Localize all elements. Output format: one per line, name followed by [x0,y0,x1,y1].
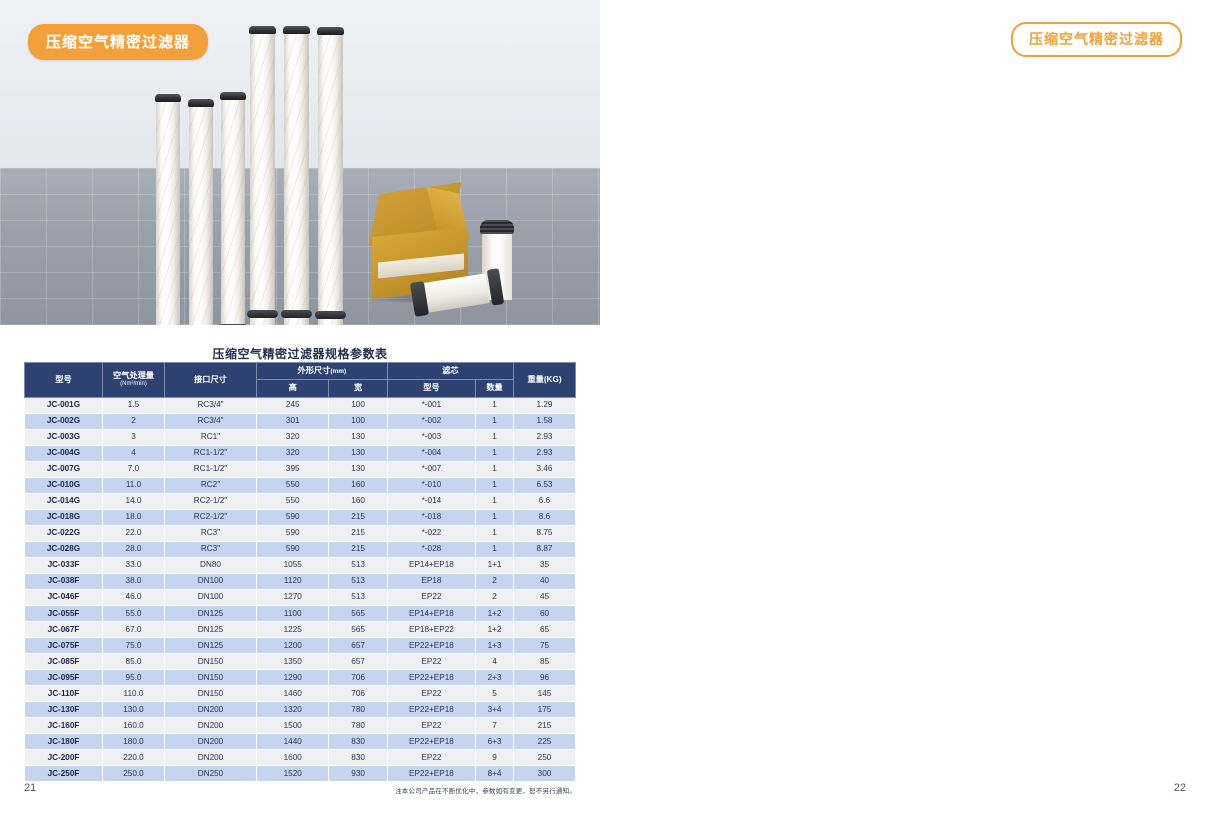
cell-model: JC-033F [25,557,103,573]
cell-value: 1225 [257,621,329,637]
cell-value: 395 [257,461,329,477]
cartridge-cap-top [283,26,310,34]
cell-value: 3 [103,429,165,445]
cell-value: RC1" [165,429,257,445]
cell-value: DN125 [165,605,257,621]
table-row: JC-038F38.0DN1001120513EP18240 [25,573,576,589]
filter-cartridge [189,99,213,325]
spec-table-title: 压缩空气精密过滤器规格参数表 [24,345,576,362]
cell-model: JC-250F [25,766,103,782]
cell-value: 565 [329,605,387,621]
cell-value: 1 [476,541,514,557]
cell-value: 215 [514,718,576,734]
cell-value: 9 [476,750,514,766]
th-air-flow: 空气处理量 (Nm³/min) [103,363,165,398]
cell-value: 657 [329,654,387,670]
cell-value: *-018 [387,509,475,525]
th-element-qty: 数量 [476,380,514,397]
table-row: JC-004G4RC1-1/2"320130*-00412.93 [25,445,576,461]
cell-value: 830 [329,750,387,766]
cell-model: JC-003G [25,429,103,445]
cell-value: 11.0 [103,477,165,493]
table-row: JC-001G1.5RC3/4"245100*-00111.29 [25,397,576,413]
cell-value: 60 [514,605,576,621]
cell-value: EP22+EP18 [387,734,475,750]
filter-cartridge [221,92,245,325]
cell-value: 1 [476,461,514,477]
cell-value: 513 [329,573,387,589]
cell-value: 22.0 [103,525,165,541]
cell-value: 513 [329,589,387,605]
cell-value: 215 [329,525,387,541]
cell-value: 2.93 [514,429,576,445]
table-row: JC-018G18.0RC2-1/2"590215*-01818.6 [25,509,576,525]
cartridge-collar [218,324,248,325]
cell-value: 1 [476,477,514,493]
cell-value: 6.53 [514,477,576,493]
cell-value: 4 [476,654,514,670]
cell-value: DN125 [165,637,257,653]
table-row: JC-067F67.0DN1251225565EP18+EP221+265 [25,621,576,637]
cell-value: 5 [476,686,514,702]
cell-value: 130 [329,429,387,445]
cell-value: 85.0 [103,654,165,670]
table-row: JC-055F55.0DN1251100565EP14+EP181+260 [25,605,576,621]
table-row: JC-200F220.0DN2001600830EP229250 [25,750,576,766]
cell-model: JC-046F [25,589,103,605]
right-page: 压缩空气精密过滤器 过滤等级过滤器名称过滤器类型固体颗粒去除(包括水和油雾)最大… [600,0,1206,816]
cell-value: DN200 [165,718,257,734]
table-row: JC-002G2RC3/4"301100*-00211.58 [25,413,576,429]
cell-value: 35 [514,557,576,573]
cell-model: JC-067F [25,621,103,637]
cell-value: 2.93 [514,445,576,461]
cell-value: *-003 [387,429,475,445]
cell-value: 1 [476,493,514,509]
cell-value: 1200 [257,637,329,653]
cell-value: 590 [257,525,329,541]
cell-value: 706 [329,686,387,702]
th-port-size: 接口尺寸 [165,363,257,398]
left-page-badge: 压缩空气精密过滤器 [28,24,208,60]
cell-value: 1520 [257,766,329,782]
th-dimensions: 外形尺寸(mm) [257,363,388,380]
cell-value: 590 [257,509,329,525]
table-row: JC-160F160.0DN2001500780EP227215 [25,718,576,734]
cell-value: 145 [514,686,576,702]
cell-model: JC-004G [25,445,103,461]
cartridge-body [221,99,245,325]
right-page-badge: 压缩空气精密过滤器 [1011,22,1182,57]
cell-value: 215 [329,509,387,525]
cell-value: EP14+EP18 [387,605,475,621]
cell-model: JC-075F [25,637,103,653]
cell-value: RC3" [165,541,257,557]
filter-cartridge [250,26,275,325]
table-row: JC-075F75.0DN1251200657EP22+EP181+375 [25,637,576,653]
table-row: JC-110F110.0DN1501460706EP225145 [25,686,576,702]
table-row: JC-010G11.0RC2"550160*-01016.53 [25,477,576,493]
cell-value: DN100 [165,573,257,589]
cell-value: EP22 [387,718,475,734]
cell-value: RC1-1/2" [165,445,257,461]
cell-value: 130.0 [103,702,165,718]
spec-table-section: 压缩空气精密过滤器规格参数表 型号 空气处理量 (Nm³/min) 接口尺寸 外… [24,345,576,795]
cell-value: EP22+EP18 [387,766,475,782]
cell-value: 1320 [257,702,329,718]
cell-model: JC-200F [25,750,103,766]
cell-value: 8.6 [514,509,576,525]
cell-value: 3.46 [514,461,576,477]
cell-value: 1.58 [514,413,576,429]
table-row: JC-250F250.0DN2501520930EP22+EP188+4300 [25,766,576,782]
cell-model: JC-085F [25,654,103,670]
th-element: 滤芯 [387,363,513,380]
cartridge-cap-top [188,99,214,107]
cell-value: 245 [257,397,329,413]
cell-value: EP22 [387,654,475,670]
cell-value: RC2-1/2" [165,509,257,525]
cartridge-collar [247,310,278,318]
th-air-flow-unit: (Nm³/min) [105,381,162,389]
cell-value: 550 [257,493,329,509]
cell-value: 1440 [257,734,329,750]
cell-value: EP18 [387,573,475,589]
cell-model: JC-028G [25,541,103,557]
cell-value: 46.0 [103,589,165,605]
cartridge-collar [315,311,346,319]
cell-value: DN250 [165,766,257,782]
th-width: 宽 [329,380,387,397]
cell-value: 590 [257,541,329,557]
spec-table: 型号 空气处理量 (Nm³/min) 接口尺寸 外形尺寸(mm) 滤芯 重量(K… [24,362,576,782]
cell-value: 6+3 [476,734,514,750]
cell-value: DN200 [165,750,257,766]
cartridge-body [284,33,309,325]
cell-value: 1350 [257,654,329,670]
cell-model: JC-130F [25,702,103,718]
cell-value: 160 [329,477,387,493]
cell-value: EP18+EP22 [387,621,475,637]
cell-value: 95.0 [103,670,165,686]
cell-value: 85 [514,654,576,670]
cartridge-cap-top [249,26,276,34]
cell-value: RC1-1/2" [165,461,257,477]
cell-value: 7 [476,718,514,734]
cell-model: JC-007G [25,461,103,477]
right-page-number: 22 [1174,782,1186,794]
th-weight: 重量(KG) [514,363,576,398]
cell-value: 250.0 [103,766,165,782]
cell-value: 513 [329,557,387,573]
cell-value: 2 [476,573,514,589]
filter-cartridge [318,27,343,325]
cell-value: 706 [329,670,387,686]
cell-value: EP22 [387,686,475,702]
cell-model: JC-018G [25,509,103,525]
cell-value: 2 [103,413,165,429]
cell-value: 2+3 [476,670,514,686]
cell-value: 110.0 [103,686,165,702]
cell-value: DN150 [165,654,257,670]
cell-value: *-004 [387,445,475,461]
th-dimensions-unit: (mm) [330,368,346,375]
cell-model: JC-022G [25,525,103,541]
cell-value: 160.0 [103,718,165,734]
cell-value: EP22+EP18 [387,637,475,653]
cell-value: RC3" [165,525,257,541]
cell-value: DN150 [165,670,257,686]
cell-value: 780 [329,718,387,734]
cell-value: 320 [257,445,329,461]
cell-value: 18.0 [103,509,165,525]
cell-value: 1 [476,509,514,525]
cell-model: JC-160F [25,718,103,734]
cell-value: 75 [514,637,576,653]
table-row: JC-046F46.0DN1001270513EP22245 [25,589,576,605]
cell-value: 1.5 [103,397,165,413]
cell-value: 565 [329,621,387,637]
cell-value: 1+2 [476,621,514,637]
left-footnote: 注本公司产品在不断优化中，参数如有变更，恕不另行通知。 [24,785,576,795]
cell-model: JC-110F [25,686,103,702]
cell-value: EP22 [387,589,475,605]
cell-value: 1270 [257,589,329,605]
cell-value: 220.0 [103,750,165,766]
cell-model: JC-038F [25,573,103,589]
cell-model: JC-002G [25,413,103,429]
th-dimensions-label: 外形尺寸 [298,366,331,375]
cell-value: EP22+EP18 [387,702,475,718]
cell-value: 75.0 [103,637,165,653]
th-model: 型号 [25,363,103,398]
cell-value: *-028 [387,541,475,557]
cell-value: 1120 [257,573,329,589]
cell-value: 1500 [257,718,329,734]
cell-value: DN80 [165,557,257,573]
cartridge-cap-top [317,27,344,35]
cell-value: 45 [514,589,576,605]
spec-header-row-1: 型号 空气处理量 (Nm³/min) 接口尺寸 外形尺寸(mm) 滤芯 重量(K… [25,363,576,380]
cell-value: *-001 [387,397,475,413]
cell-value: RC2-1/2" [165,493,257,509]
table-row: JC-022G22.0RC3"590215*-02218.75 [25,525,576,541]
cell-value: 3+4 [476,702,514,718]
table-row: JC-095F95.0DN1501290706EP22+EP182+396 [25,670,576,686]
cell-value: *-010 [387,477,475,493]
cell-value: 96 [514,670,576,686]
cell-value: 4 [103,445,165,461]
cell-value: 100 [329,397,387,413]
cell-value: DN200 [165,734,257,750]
cell-value: 830 [329,734,387,750]
cell-value: 1+3 [476,637,514,653]
cartridge-cap-top [220,92,246,100]
cell-value: 250 [514,750,576,766]
cell-value: 1 [476,413,514,429]
table-row: JC-028G28.0RC3"590215*-02818.87 [25,541,576,557]
cell-value: 1100 [257,605,329,621]
spec-table-body: JC-001G1.5RC3/4"245100*-00111.29JC-002G2… [25,397,576,782]
cartridge-body [250,33,275,325]
cell-value: RC3/4" [165,397,257,413]
cell-value: RC2" [165,477,257,493]
filter-cartridge [284,26,309,325]
left-page: 压缩空气精密过滤器 压缩空气精密过滤器规格参数表 型号 空气处理量 (Nm³/m… [0,0,600,816]
cell-value: DN200 [165,702,257,718]
cartridge-body [318,34,343,325]
cell-value: 930 [329,766,387,782]
cell-value: DN150 [165,686,257,702]
cell-value: 1.29 [514,397,576,413]
table-row: JC-033F33.0DN801055513EP14+EP181+135 [25,557,576,573]
table-row: JC-014G14.0RC2-1/2"550160*-01416.6 [25,493,576,509]
cell-value: 780 [329,702,387,718]
cell-value: 7.0 [103,461,165,477]
cell-value: 1600 [257,750,329,766]
cell-value: 160 [329,493,387,509]
cell-value: EP22 [387,750,475,766]
cell-value: 38.0 [103,573,165,589]
filter-cartridge [156,94,180,325]
cell-value: 55.0 [103,605,165,621]
table-row: JC-085F85.0DN1501350657EP22485 [25,654,576,670]
cell-value: DN125 [165,621,257,637]
cell-value: 1 [476,525,514,541]
cell-value: 300 [514,766,576,782]
cell-model: JC-010G [25,477,103,493]
cell-value: 1+1 [476,557,514,573]
cell-value: 40 [514,573,576,589]
th-height: 高 [257,380,329,397]
cell-model: JC-095F [25,670,103,686]
cell-value: 1 [476,397,514,413]
cell-model: JC-180F [25,734,103,750]
cartridge-cap-top [480,220,514,234]
cell-value: 33.0 [103,557,165,573]
cell-value: *-022 [387,525,475,541]
table-row: JC-130F130.0DN2001320780EP22+EP183+4175 [25,702,576,718]
cartridge-cap-top [155,94,181,102]
cell-value: 1 [476,445,514,461]
table-row: JC-180F180.0DN2001440830EP22+EP186+3225 [25,734,576,750]
cell-value: DN100 [165,589,257,605]
cell-value: 301 [257,413,329,429]
cartridge-body [156,101,180,325]
cell-value: 8.87 [514,541,576,557]
cell-value: 1460 [257,686,329,702]
cell-value: 100 [329,413,387,429]
cell-value: 6.6 [514,493,576,509]
cell-value: EP22+EP18 [387,670,475,686]
cell-model: JC-055F [25,605,103,621]
cell-value: 130 [329,445,387,461]
cell-value: 1+2 [476,605,514,621]
cell-value: EP14+EP18 [387,557,475,573]
cell-value: 1055 [257,557,329,573]
th-element-model: 型号 [387,380,475,397]
cell-value: 14.0 [103,493,165,509]
cell-value: 8+4 [476,766,514,782]
cell-value: *-007 [387,461,475,477]
cell-value: 225 [514,734,576,750]
cell-value: 1290 [257,670,329,686]
left-page-number: 21 [24,782,36,794]
cell-model: JC-014G [25,493,103,509]
cell-value: 2 [476,589,514,605]
cell-value: 65 [514,621,576,637]
product-photo: 压缩空气精密过滤器 [0,0,600,325]
cell-value: RC3/4" [165,413,257,429]
cell-value: 67.0 [103,621,165,637]
cell-value: *-002 [387,413,475,429]
cell-value: 550 [257,477,329,493]
cell-value: 1 [476,429,514,445]
cell-model: JC-001G [25,397,103,413]
cell-value: 215 [329,541,387,557]
table-row: JC-007G7.0RC1-1/2"395130*-00713.46 [25,461,576,477]
cell-value: 130 [329,461,387,477]
cell-value: 180.0 [103,734,165,750]
cell-value: 320 [257,429,329,445]
cartridge-body [189,106,213,325]
table-row: JC-003G3RC1"320130*-00312.93 [25,429,576,445]
cell-value: 175 [514,702,576,718]
spec-table-head: 型号 空气处理量 (Nm³/min) 接口尺寸 外形尺寸(mm) 滤芯 重量(K… [25,363,576,398]
cell-value: 657 [329,637,387,653]
th-air-flow-label: 空气处理量 [113,371,154,380]
cartridge-collar [281,310,312,318]
cell-value: *-014 [387,493,475,509]
catalog-spread: 压缩空气精密过滤器 压缩空气精密过滤器规格参数表 型号 空气处理量 (Nm³/m… [0,0,1206,816]
cell-value: 8.75 [514,525,576,541]
cell-value: 28.0 [103,541,165,557]
